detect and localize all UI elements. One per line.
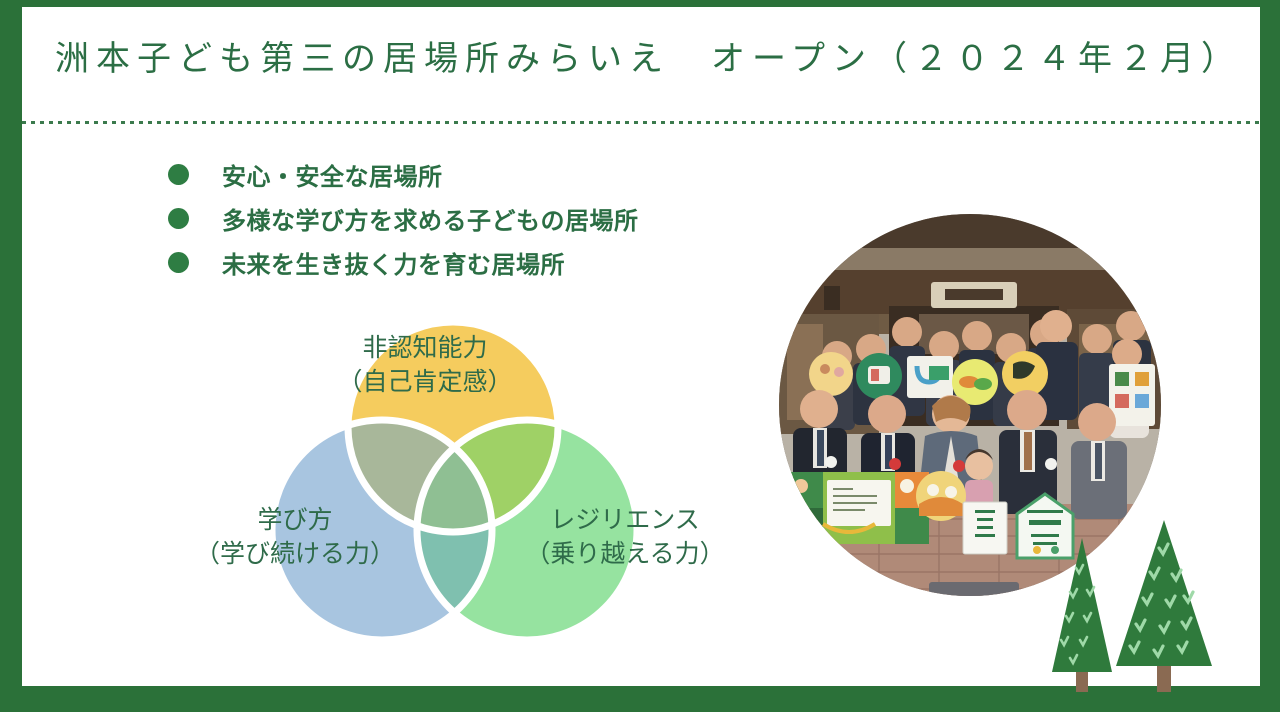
venn-label-top-line1: 非認知能力	[300, 331, 550, 365]
title-divider	[22, 121, 1260, 124]
frame-border-left	[0, 0, 22, 720]
list-item-label: 多様な学び方を求める子どもの居場所	[222, 201, 639, 236]
tree-small-icon	[1052, 538, 1112, 672]
venn-label-right-line2: （乗り越える力）	[490, 537, 760, 571]
list-item: 多様な学び方を求める子どもの居場所	[168, 196, 808, 240]
venn-label-left-line1: 学び方	[165, 503, 425, 537]
slide-canvas: 洲本子ども第三の居場所みらいえ オープン（２０２４年２月） 安心・安全な居場所 …	[0, 0, 1280, 720]
venn-label-right: レジリエンス （乗り越える力）	[490, 503, 760, 571]
tree-large-icon	[1116, 520, 1212, 666]
tree-trunk-large	[1157, 662, 1171, 692]
bullet-dot-icon	[168, 208, 189, 229]
frame-border-right	[1260, 0, 1280, 720]
bullet-list: 安心・安全な居場所 多様な学び方を求める子どもの居場所 未来を生き抜く力を育む居…	[168, 152, 808, 284]
evergreen-trees-decoration	[1040, 520, 1220, 692]
list-item-label: 安心・安全な居場所	[222, 157, 443, 192]
bullet-dot-icon	[168, 252, 189, 273]
frame-border-top	[0, 0, 1280, 7]
frame-border-bottom-edge	[0, 712, 1280, 720]
list-item: 未来を生き抜く力を育む居場所	[168, 240, 808, 284]
venn-label-left: 学び方 （学び続ける力）	[165, 503, 425, 571]
venn-label-right-line1: レジリエンス	[490, 503, 760, 537]
page-title: 洲本子ども第三の居場所みらいえ オープン（２０２４年２月）	[55, 36, 1235, 82]
venn-diagram: 非認知能力 （自己肯定感） 学び方 （学び続ける力） レジリエンス （乗り越える…	[170, 315, 750, 645]
bullet-dot-icon	[168, 164, 189, 185]
venn-label-left-line2: （学び続ける力）	[165, 537, 425, 571]
tree-trunk-small	[1076, 670, 1088, 692]
list-item-label: 未来を生き抜く力を育む居場所	[222, 245, 565, 280]
venn-label-top-line2: （自己肯定感）	[300, 365, 550, 399]
venn-label-top: 非認知能力 （自己肯定感）	[300, 331, 550, 399]
list-item: 安心・安全な居場所	[168, 152, 808, 196]
